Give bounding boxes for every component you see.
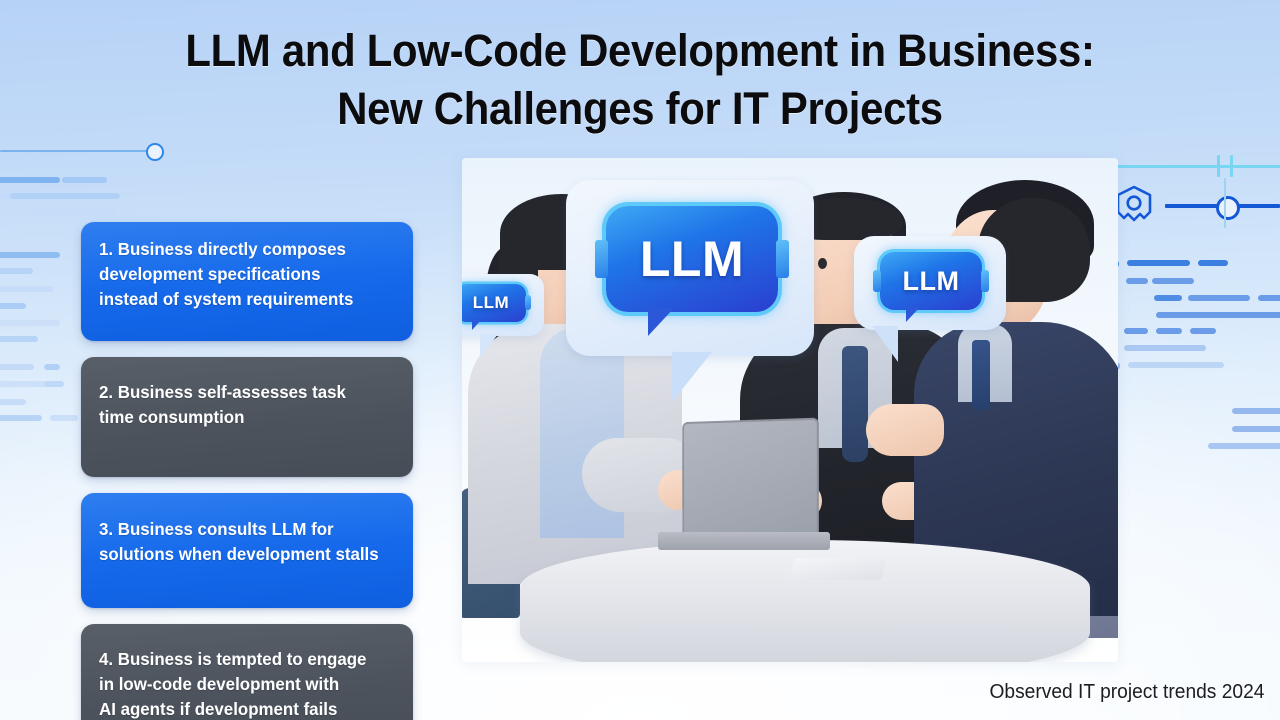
deco-bar: [1198, 260, 1228, 266]
deco-bar: [0, 399, 26, 405]
deco-bar: [0, 303, 26, 309]
deco-bar: [0, 320, 60, 326]
deco-bar: [1190, 328, 1216, 334]
llm-chip-right: LLM: [880, 252, 982, 310]
meeting-illustration: LLM LLM LLM: [462, 158, 1118, 662]
bubble-tail-right: [872, 326, 898, 362]
deco-ring-node: [1216, 196, 1240, 220]
challenge-card-3[interactable]: 3. Business consults LLM for solutions w…: [81, 493, 413, 608]
llm-bubble-center[interactable]: LLM: [566, 180, 814, 356]
deco-bar: [44, 381, 64, 387]
deco-bar: [1188, 295, 1250, 301]
llm-chip-ear-left: [873, 270, 881, 292]
deco-bar: [0, 177, 60, 183]
deco-bar: [1154, 295, 1182, 301]
llm-label-center: LLM: [640, 230, 744, 288]
deco-bar: [1152, 278, 1194, 284]
paper-on-table: [790, 558, 887, 580]
deco-bar: [1128, 362, 1224, 368]
llm-chip-center: LLM: [606, 206, 778, 312]
laptop-base: [658, 532, 830, 550]
page-title: LLM and Low-Code Development in Business…: [0, 22, 1280, 138]
deco-bar: [0, 252, 60, 258]
deco-bar: [50, 415, 78, 421]
deco-bar: [1126, 278, 1148, 284]
deco-cyan-tick: [1230, 155, 1233, 177]
challenge-card-4[interactable]: 4. Business is tempted to engage in low-…: [81, 624, 413, 720]
deco-cyan-line: [1108, 165, 1280, 168]
challenge-card-list: 1. Business directly composes developmen…: [81, 222, 413, 720]
bubble-tail-left: [480, 334, 498, 358]
llm-chip-ear-left: [595, 240, 608, 278]
llm-chip-tail-center: [648, 308, 674, 336]
llm-chip-tail-left: [472, 320, 481, 330]
tie-man-center: [842, 346, 868, 462]
challenge-card-2-text: 2. Business self-assesses task time cons…: [99, 370, 387, 430]
deco-bar: [1156, 312, 1280, 318]
challenge-card-2[interactable]: 2. Business self-assesses task time cons…: [81, 357, 413, 477]
deco-bar: [1232, 426, 1280, 432]
deco-bar: [1124, 328, 1148, 334]
deco-vertical-tick: [1224, 178, 1226, 228]
deco-bar: [44, 364, 60, 370]
deco-node-line-left: [0, 150, 150, 152]
title-line-1: LLM and Low-Code Development in Business…: [45, 22, 1235, 80]
deco-bar: [1127, 260, 1190, 266]
deco-bar: [0, 381, 48, 387]
footer-caption: Observed IT project trends 2024: [989, 681, 1264, 704]
deco-bar: [0, 364, 34, 370]
deco-bar: [1124, 345, 1206, 351]
llm-chip-left: LLM: [462, 284, 526, 322]
deco-bar: [0, 415, 42, 421]
deco-bar: [0, 268, 33, 274]
challenge-card-4-text: 4. Business is tempted to engage in low-…: [99, 637, 387, 720]
llm-chip-ear-right: [776, 240, 789, 278]
deco-bar: [0, 336, 38, 342]
challenge-card-3-text: 3. Business consults LLM for solutions w…: [99, 506, 387, 567]
llm-bubble-right[interactable]: LLM: [854, 236, 1006, 330]
deco-node-circle-left: [146, 143, 164, 161]
llm-chip-ear-right: [525, 295, 531, 310]
deco-cyan-tick: [1217, 155, 1220, 177]
challenge-card-1-text: 1. Business directly composes developmen…: [99, 235, 387, 312]
deco-bar: [1258, 295, 1280, 301]
bubble-tail-center: [672, 352, 712, 402]
laptop-screen: [682, 418, 819, 543]
deco-bar: [32, 210, 118, 216]
illustration-scene: LLM LLM LLM: [462, 158, 1118, 662]
hand-man-right: [866, 404, 944, 456]
deco-bar: [0, 286, 53, 292]
gear-hexagon-icon: [1113, 184, 1155, 226]
deco-bar: [1208, 443, 1280, 449]
deco-bar: [62, 177, 107, 183]
llm-chip-ear-right: [981, 270, 989, 292]
deco-bar: [10, 193, 120, 199]
deco-bar: [1156, 328, 1182, 334]
challenge-card-1[interactable]: 1. Business directly composes developmen…: [81, 222, 413, 341]
llm-label-left: LLM: [473, 293, 509, 313]
eye-man-center-left: [818, 258, 827, 269]
llm-chip-tail-right: [906, 307, 920, 322]
deco-bar: [1232, 408, 1280, 414]
llm-label-right: LLM: [903, 266, 960, 297]
slide-canvas: LLM and Low-Code Development in Business…: [0, 0, 1280, 720]
llm-bubble-left[interactable]: LLM: [462, 274, 544, 336]
tie-man-right: [972, 340, 990, 410]
title-line-2: New Challenges for IT Projects: [45, 80, 1235, 138]
